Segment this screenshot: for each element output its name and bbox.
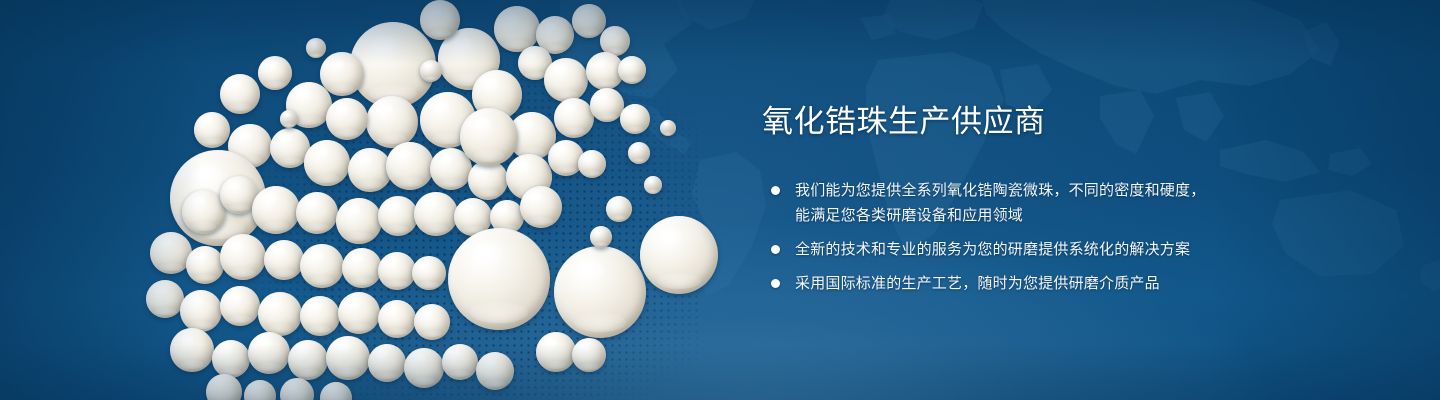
benefit-item-1-line-2: 能满足您各类研磨设备和应用领域 bbox=[795, 203, 1232, 228]
benefit-item-3: 采用国际标准的生产工艺，随时为您提供研磨介质产品 bbox=[762, 271, 1232, 296]
banner-copy: 氧化锆珠生产供应商 我们能为您提供全系列氧化锆陶瓷微珠，不同的密度和硬度， 能满… bbox=[762, 104, 1232, 296]
benefit-item-3-line-1: 采用国际标准的生产工艺，随时为您提供研磨介质产品 bbox=[795, 271, 1232, 296]
benefit-list: 我们能为您提供全系列氧化锆陶瓷微珠，不同的密度和硬度， 能满足您各类研磨设备和应… bbox=[762, 178, 1232, 296]
hero-banner: 氧化锆珠生产供应商 我们能为您提供全系列氧化锆陶瓷微珠，不同的密度和硬度， 能满… bbox=[0, 0, 1440, 400]
benefit-item-1: 我们能为您提供全系列氧化锆陶瓷微珠，不同的密度和硬度， 能满足您各类研磨设备和应… bbox=[762, 178, 1232, 228]
banner-headline: 氧化锆珠生产供应商 bbox=[762, 104, 1232, 141]
bullet-dot-icon bbox=[771, 186, 780, 195]
benefit-item-1-line-1: 我们能为您提供全系列氧化锆陶瓷微珠，不同的密度和硬度， bbox=[795, 178, 1232, 203]
benefit-item-2-line-1: 全新的技术和专业的服务为您的研磨提供系统化的解决方案 bbox=[795, 237, 1232, 262]
bullet-dot-icon bbox=[771, 279, 780, 288]
benefit-item-2: 全新的技术和专业的服务为您的研磨提供系统化的解决方案 bbox=[762, 237, 1232, 262]
bullet-dot-icon bbox=[771, 245, 780, 254]
